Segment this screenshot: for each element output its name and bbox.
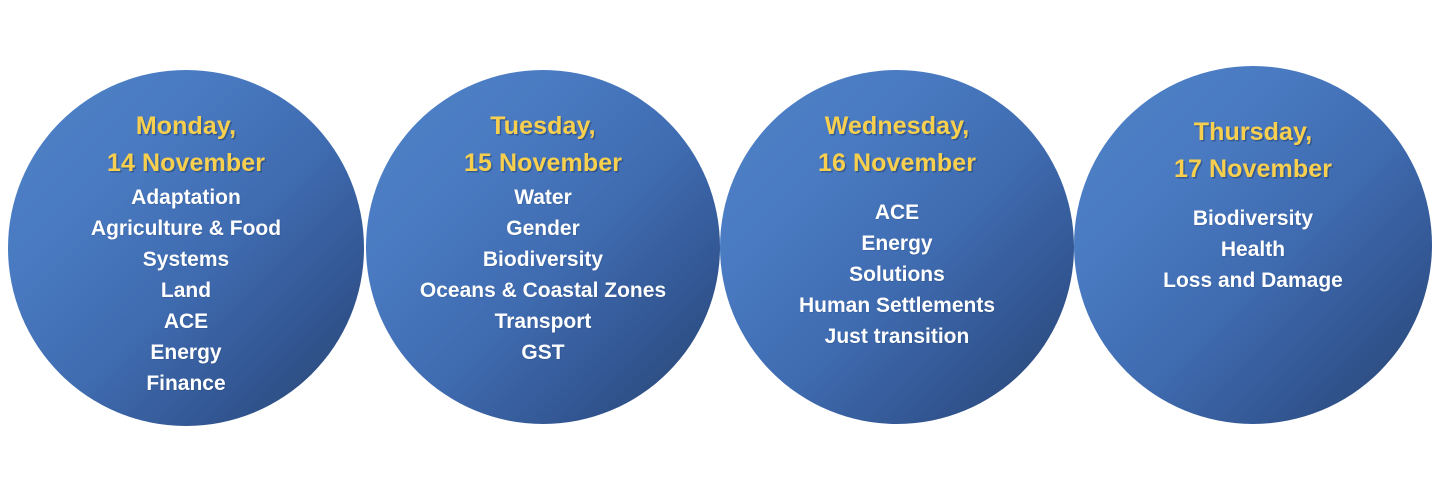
topic-item: Solutions <box>799 259 995 290</box>
topic-item: Loss and Damage <box>1163 265 1343 296</box>
day-text-block: Tuesday, 15 November Water Gender Biodiv… <box>366 70 720 368</box>
day-title-line-1: Wednesday, <box>818 108 976 145</box>
topic-item: Land <box>91 275 281 306</box>
topic-item: Water <box>420 182 666 213</box>
topic-item: ACE <box>91 306 281 337</box>
day-title-thursday: Thursday, 17 November <box>1174 114 1332 188</box>
day-text-block: Wednesday, 16 November ACE Energy Soluti… <box>720 70 1074 352</box>
topic-item: Oceans & Coastal Zones <box>420 275 666 306</box>
topic-item: Energy <box>799 228 995 259</box>
day-circle-monday: Monday, 14 November Adaptation Agricultu… <box>8 70 364 426</box>
topic-item: Adaptation <box>91 182 281 213</box>
day-title-wednesday: Wednesday, 16 November <box>818 108 976 182</box>
topic-item: Transport <box>420 306 666 337</box>
topic-item: Finance <box>91 368 281 399</box>
thematic-days-board: Monday, 14 November Adaptation Agricultu… <box>0 0 1440 500</box>
day-title-line-2: 14 November <box>107 145 265 182</box>
day-text-block: Monday, 14 November Adaptation Agricultu… <box>8 70 364 399</box>
topic-item: Just transition <box>799 321 995 352</box>
day-circle-thursday: Thursday, 17 November Biodiversity Healt… <box>1074 66 1432 424</box>
day-title-line-2: 16 November <box>818 145 976 182</box>
topic-item: GST <box>420 337 666 368</box>
day-text-block: Thursday, 17 November Biodiversity Healt… <box>1074 66 1432 296</box>
day-title-line-1: Thursday, <box>1174 114 1332 151</box>
topic-item: Systems <box>91 244 281 275</box>
day-title-line-2: 17 November <box>1174 151 1332 188</box>
day-title-line-1: Monday, <box>107 108 265 145</box>
day-title-monday: Monday, 14 November <box>107 108 265 182</box>
topic-item: Biodiversity <box>420 244 666 275</box>
topic-list-wednesday: ACE Energy Solutions Human Settlements J… <box>799 197 995 352</box>
topic-item: Biodiversity <box>1163 203 1343 234</box>
topic-item: Agriculture & Food <box>91 213 281 244</box>
day-title-tuesday: Tuesday, 15 November <box>464 108 622 182</box>
topic-list-monday: Adaptation Agriculture & Food Systems La… <box>91 182 281 399</box>
day-circle-wednesday: Wednesday, 16 November ACE Energy Soluti… <box>720 70 1074 424</box>
topic-list-tuesday: Water Gender Biodiversity Oceans & Coast… <box>420 182 666 368</box>
topic-list-thursday: Biodiversity Health Loss and Damage <box>1163 203 1343 296</box>
topic-item: Human Settlements <box>799 290 995 321</box>
topic-item: ACE <box>799 197 995 228</box>
topic-item: Gender <box>420 213 666 244</box>
day-circle-tuesday: Tuesday, 15 November Water Gender Biodiv… <box>366 70 720 424</box>
day-title-line-1: Tuesday, <box>464 108 622 145</box>
topic-item: Health <box>1163 234 1343 265</box>
day-title-line-2: 15 November <box>464 145 622 182</box>
topic-item: Energy <box>91 337 281 368</box>
